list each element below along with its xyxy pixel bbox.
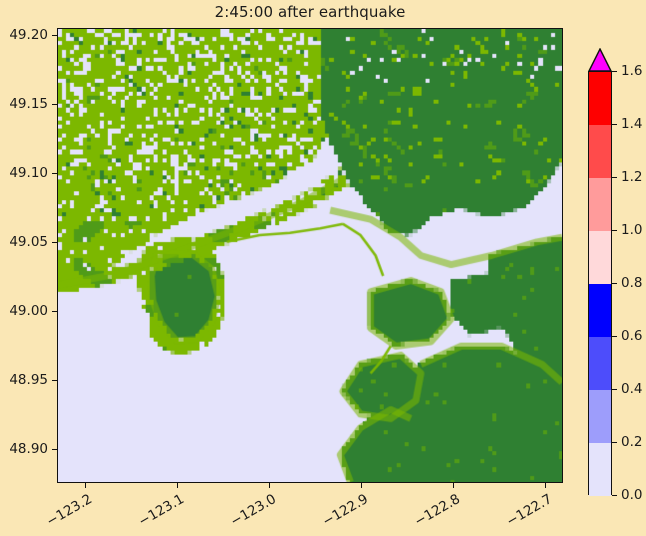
x-tick-mark xyxy=(85,483,86,488)
x-tick-label: −122.8 xyxy=(406,491,462,533)
colorbar-band xyxy=(589,443,611,496)
inundation-map-raster[interactable] xyxy=(58,29,562,482)
colorbar-tick-mark xyxy=(612,230,617,231)
page-title: 2:45:00 after earthquake xyxy=(57,3,563,21)
colorbar-tick-mark xyxy=(612,124,617,125)
x-tick-label: −123.0 xyxy=(222,491,278,533)
colorbar-tick-label: 0.4 xyxy=(621,381,642,397)
colorbar-band xyxy=(589,125,611,178)
map-axes[interactable] xyxy=(57,28,563,483)
colorbar-band xyxy=(589,337,611,390)
colorbar-tick-mark xyxy=(612,336,617,337)
colorbar-tick-label: 1.0 xyxy=(621,222,642,238)
x-tick-label: −123.2 xyxy=(38,491,94,533)
colorbar-tick-label: 0.6 xyxy=(621,328,642,344)
colorbar[interactable]: 0.00.20.40.60.81.01.21.41.6 xyxy=(588,48,646,468)
x-tick-mark xyxy=(177,483,178,488)
x-tick-label: −122.9 xyxy=(314,491,370,533)
colorbar-band xyxy=(589,231,611,284)
colorbar-tick-label: 0.8 xyxy=(621,275,642,291)
colorbar-tick-mark xyxy=(612,389,617,390)
colorbar-tick-mark xyxy=(612,442,617,443)
colorbar-band xyxy=(589,72,611,125)
y-tick-label: 49.20 xyxy=(0,27,48,43)
x-tick-mark xyxy=(545,483,546,488)
y-tick-label: 48.95 xyxy=(0,372,48,388)
figure-canvas: 2:45:00 after earthquake 49.2049.1549.10… xyxy=(0,0,646,536)
colorbar-tick-label: 0.0 xyxy=(621,487,642,503)
y-tick-label: 49.00 xyxy=(0,303,48,319)
colorbar-tick-label: 1.4 xyxy=(621,116,642,132)
colorbar-tick-label: 1.2 xyxy=(621,169,642,185)
colorbar-band xyxy=(589,390,611,443)
x-tick-mark xyxy=(453,483,454,488)
x-tick-mark xyxy=(269,483,270,488)
colorbar-band xyxy=(589,178,611,231)
colorbar-tick-mark xyxy=(612,283,617,284)
y-tick-label: 49.15 xyxy=(0,96,48,112)
colorbar-band xyxy=(589,284,611,337)
colorbar-tick-mark xyxy=(612,71,617,72)
y-tick-label: 49.05 xyxy=(0,234,48,250)
colorbar-tick-mark xyxy=(612,177,617,178)
colorbar-tick-label: 1.6 xyxy=(621,63,642,79)
y-tick-label: 48.90 xyxy=(0,441,48,457)
x-tick-label: −123.1 xyxy=(130,491,186,533)
y-tick-label: 49.10 xyxy=(0,165,48,181)
colorbar-gradient xyxy=(588,71,612,495)
colorbar-tick-mark xyxy=(612,495,617,496)
x-tick-mark xyxy=(361,483,362,488)
x-tick-label: −122.7 xyxy=(498,491,554,533)
colorbar-extend-arrow-icon xyxy=(588,48,612,72)
colorbar-tick-label: 0.2 xyxy=(621,434,642,450)
